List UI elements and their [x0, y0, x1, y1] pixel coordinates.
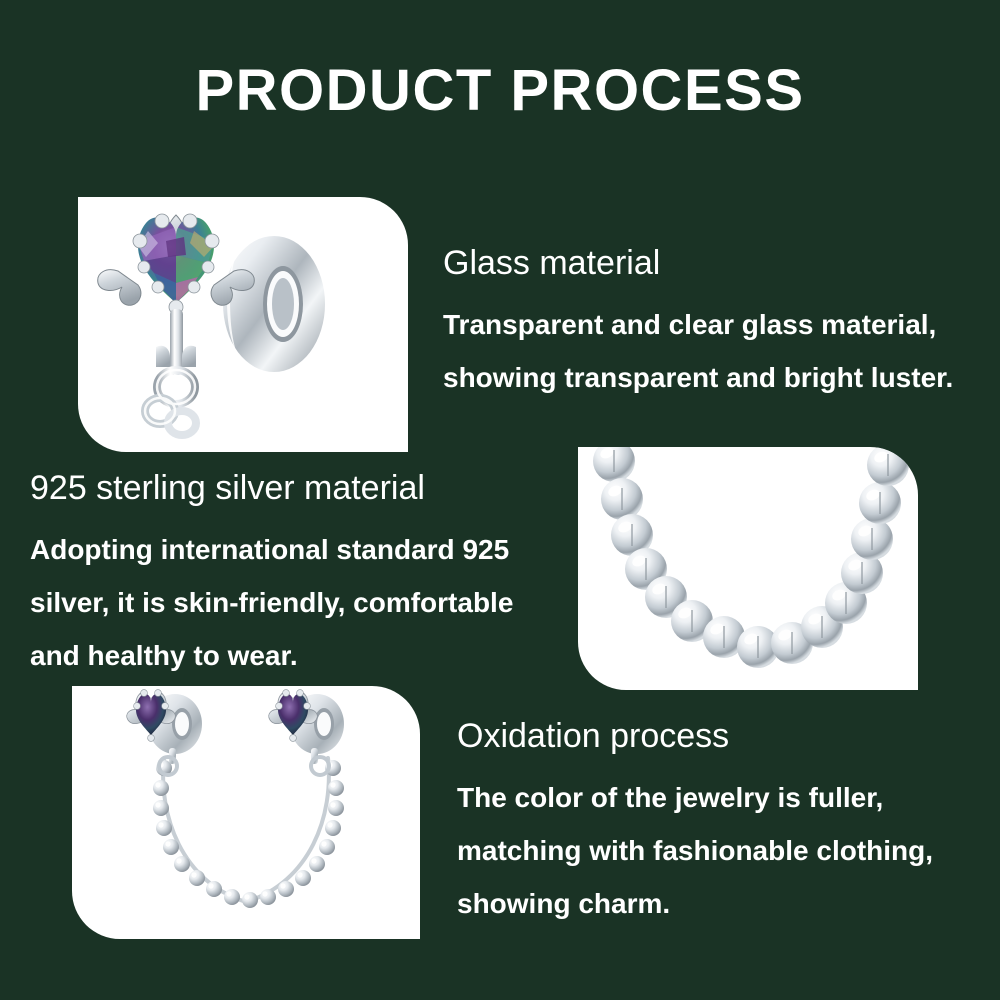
product-image-card-glass-material: [78, 197, 408, 452]
body-line: Adopting international standard 925: [30, 523, 513, 576]
section-glass-material: Glass material Transparent and clear gla…: [443, 243, 953, 404]
body-line: silver, it is skin-friendly, comfortable: [30, 576, 513, 629]
product-image-card-oxidation-process: [72, 686, 420, 939]
page-title: PRODUCT PROCESS: [0, 62, 1000, 120]
section-heading: Glass material: [443, 243, 953, 284]
safety-chain-beads: [153, 760, 344, 908]
charm-drop-bar: [156, 309, 196, 375]
section-body: Transparent and clear glass material, sh…: [443, 298, 953, 404]
product-image-card-sterling-silver-material: [578, 447, 918, 690]
section-body: Adopting international standard 925 silv…: [30, 523, 513, 682]
body-line: and healthy to wear.: [30, 629, 513, 682]
section-heading: 925 sterling silver material: [30, 468, 513, 509]
body-line: showing charm.: [457, 877, 933, 930]
body-line: matching with fashionable clothing,: [457, 824, 933, 877]
silver-ball-chain-necklace-icon: [578, 447, 918, 690]
section-sterling-silver-material: 925 sterling silver material Adopting in…: [30, 468, 513, 682]
safety-chain-with-two-gemstone-clips-icon: [72, 686, 420, 939]
body-line: showing transparent and bright luster.: [443, 351, 953, 404]
product-process-infographic: PRODUCT PROCESS: [0, 0, 1000, 1000]
body-line: The color of the jewelry is fuller,: [457, 771, 933, 824]
section-body: The color of the jewelry is fuller, matc…: [457, 771, 933, 930]
section-oxidation-process: Oxidation process The color of the jewel…: [457, 716, 933, 930]
silver-charm-bead-with-heart-gemstone-icon: [78, 197, 408, 452]
section-heading: Oxidation process: [457, 716, 933, 757]
charm-bead-body: [223, 236, 325, 372]
body-line: Transparent and clear glass material,: [443, 298, 953, 351]
